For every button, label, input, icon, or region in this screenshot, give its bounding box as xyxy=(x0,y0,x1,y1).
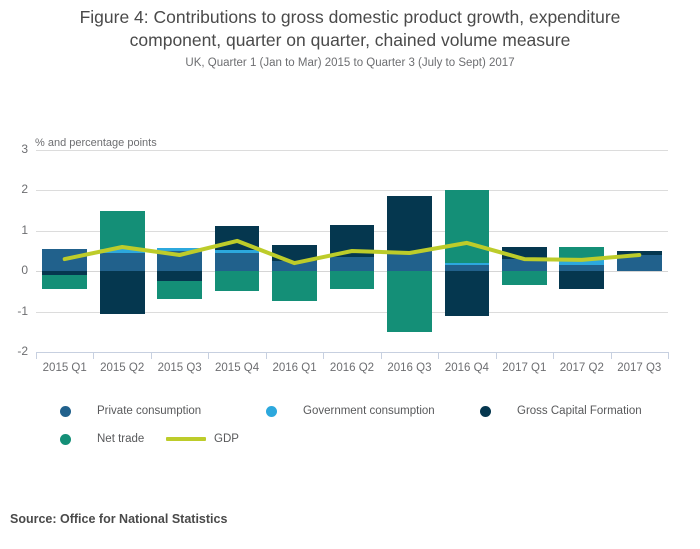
legend-label: Government consumption xyxy=(303,405,435,417)
legend-label: Private consumption xyxy=(97,405,201,417)
legend-line-swatch xyxy=(166,437,206,441)
legend-dot-swatch xyxy=(60,406,71,417)
legend-item-gross-capital-formation[interactable]: Gross Capital Formation xyxy=(480,405,642,417)
legend-label: Gross Capital Formation xyxy=(517,405,642,417)
x-axis-label-2016-q3: 2016 Q3 xyxy=(381,362,438,374)
gdp-line-series xyxy=(36,150,668,352)
chart-legend: Private consumptionGovernment consumptio… xyxy=(60,405,670,465)
x-tickmark xyxy=(611,352,612,359)
plot-area: % and percentage points 3210-1-2 2015 Q1… xyxy=(0,130,700,370)
x-axis-label-2017-q3: 2017 Q3 xyxy=(611,362,668,374)
source-note: Source: Office for National Statistics xyxy=(10,512,227,526)
x-tickmark xyxy=(553,352,554,359)
y-tick-label: -2 xyxy=(0,344,28,358)
legend-item-government-consumption[interactable]: Government consumption xyxy=(266,405,435,417)
x-tickmark xyxy=(93,352,94,359)
legend-dot-swatch xyxy=(480,406,491,417)
y-tick-label: 1 xyxy=(0,223,28,237)
plot-canvas xyxy=(36,150,668,352)
x-tickmark xyxy=(208,352,209,359)
x-axis-label-2015-q3: 2015 Q3 xyxy=(151,362,208,374)
x-axis-labels: 2015 Q12015 Q22015 Q32015 Q42016 Q12016 … xyxy=(36,362,668,382)
x-axis-label-2015-q2: 2015 Q2 xyxy=(93,362,150,374)
y-tick-label: -1 xyxy=(0,304,28,318)
y-axis-unit-label: % and percentage points xyxy=(35,137,157,149)
figure-container: Figure 4: Contributions to gross domesti… xyxy=(0,0,700,549)
legend-label: Net trade xyxy=(97,433,144,445)
legend-item-gdp[interactable]: GDP xyxy=(166,433,239,445)
x-axis-line xyxy=(36,352,668,353)
legend-item-net-trade[interactable]: Net trade xyxy=(60,433,144,445)
legend-dot-swatch xyxy=(266,406,277,417)
x-tickmark xyxy=(438,352,439,359)
x-tickmark xyxy=(266,352,267,359)
y-tick-label: 3 xyxy=(0,142,28,156)
x-tickmark xyxy=(381,352,382,359)
legend-item-private-consumption[interactable]: Private consumption xyxy=(60,405,201,417)
x-tickmark xyxy=(151,352,152,359)
legend-dot-swatch xyxy=(60,434,71,445)
legend-label: GDP xyxy=(214,433,239,445)
x-axis-label-2016-q4: 2016 Q4 xyxy=(438,362,495,374)
x-axis-label-2015-q4: 2015 Q4 xyxy=(208,362,265,374)
x-tickmark xyxy=(323,352,324,359)
y-tick-label: 2 xyxy=(0,182,28,196)
gdp-polyline xyxy=(65,241,640,263)
figure-subtitle: UK, Quarter 1 (Jan to Mar) 2015 to Quart… xyxy=(40,57,660,69)
x-tickmark xyxy=(36,352,37,359)
y-tick-label: 0 xyxy=(0,263,28,277)
page-title: Figure 4: Contributions to gross domesti… xyxy=(40,6,660,52)
x-axis-label-2017-q1: 2017 Q1 xyxy=(496,362,553,374)
x-axis-label-2016-q2: 2016 Q2 xyxy=(323,362,380,374)
x-axis-label-2017-q2: 2017 Q2 xyxy=(553,362,610,374)
x-axis-label-2015-q1: 2015 Q1 xyxy=(36,362,93,374)
x-tickmark xyxy=(668,352,669,359)
x-tickmark xyxy=(496,352,497,359)
x-axis-label-2016-q1: 2016 Q1 xyxy=(266,362,323,374)
